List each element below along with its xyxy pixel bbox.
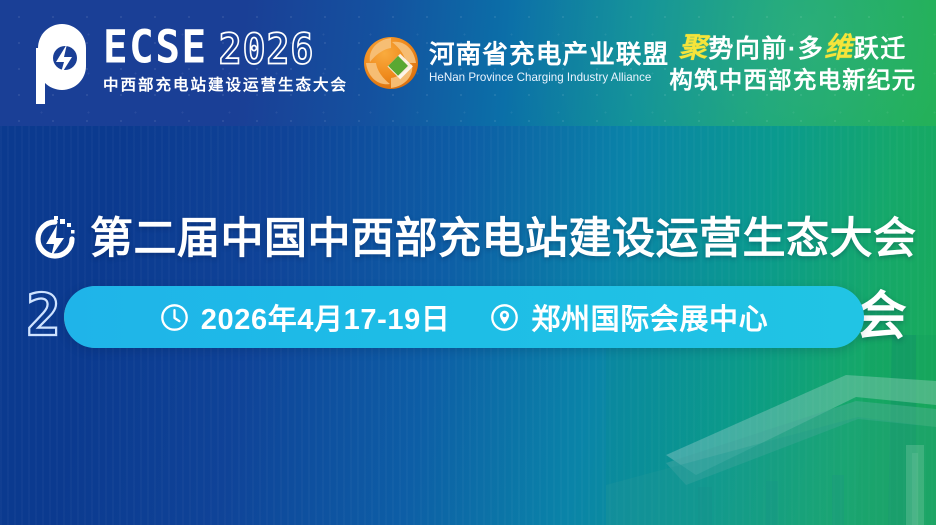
alliance-name-cn: 河南省充电产业联盟 (429, 42, 669, 69)
event-poster: ECSE 2026 中西部充电站建设运营生态大会 (0, 0, 936, 525)
ecse-logo-lockup: ECSE 2026 中西部充电站建设运营生态大会 (22, 22, 348, 104)
event-info-bar: 2026年4月17-19日 郑州国际会展中心 (64, 286, 864, 348)
slogan-accent-ju: 聚 (679, 31, 709, 64)
ecse-year: 2026 (219, 29, 315, 69)
slogan-line-2: 构筑中西部充电新纪元 (669, 67, 916, 94)
pinwheel-diamond-logo-icon (362, 34, 420, 92)
alliance-logo-lockup: 河南省充电产业联盟 HeNan Province Charging Indust… (362, 34, 669, 92)
event-venue-text: 郑州国际会展中心 (531, 296, 768, 338)
circle-lightning-bolt-icon (30, 214, 80, 264)
slogan-line1-end: 跃迁 (854, 35, 907, 63)
plug-bolt-p-mark-icon (22, 22, 96, 104)
ecse-subtitle-cn: 中西部充电站建设运营生态大会 (103, 73, 348, 95)
map-pin-icon (490, 303, 519, 332)
ecse-wordmark: ECSE (103, 27, 208, 68)
clock-icon (160, 303, 189, 332)
main-title-line-1: 第二届中国中西部充电站建设运营生态大会 (30, 214, 917, 264)
slogan-line-1: 聚势向前·多维跃迁 (669, 32, 916, 64)
event-date-item: 2026年4月17-19日 (160, 296, 451, 338)
alliance-name-en: HeNan Province Charging Industry Allianc… (429, 71, 669, 84)
slogan-line1-mid: 势向前·多 (708, 35, 824, 63)
event-date-text: 2026年4月17-19日 (201, 296, 451, 338)
header-slogan: 聚势向前·多维跃迁 构筑中西部充电新纪元 (669, 32, 916, 94)
slogan-accent-wei: 维 (824, 31, 854, 64)
header-band: ECSE 2026 中西部充电站建设运营生态大会 (0, 0, 936, 126)
year-digit-left: 2 (26, 286, 61, 344)
event-venue-item: 郑州国际会展中心 (490, 296, 768, 338)
main-title-text-1: 第二届中国中西部充电站建设运营生态大会 (90, 218, 917, 261)
